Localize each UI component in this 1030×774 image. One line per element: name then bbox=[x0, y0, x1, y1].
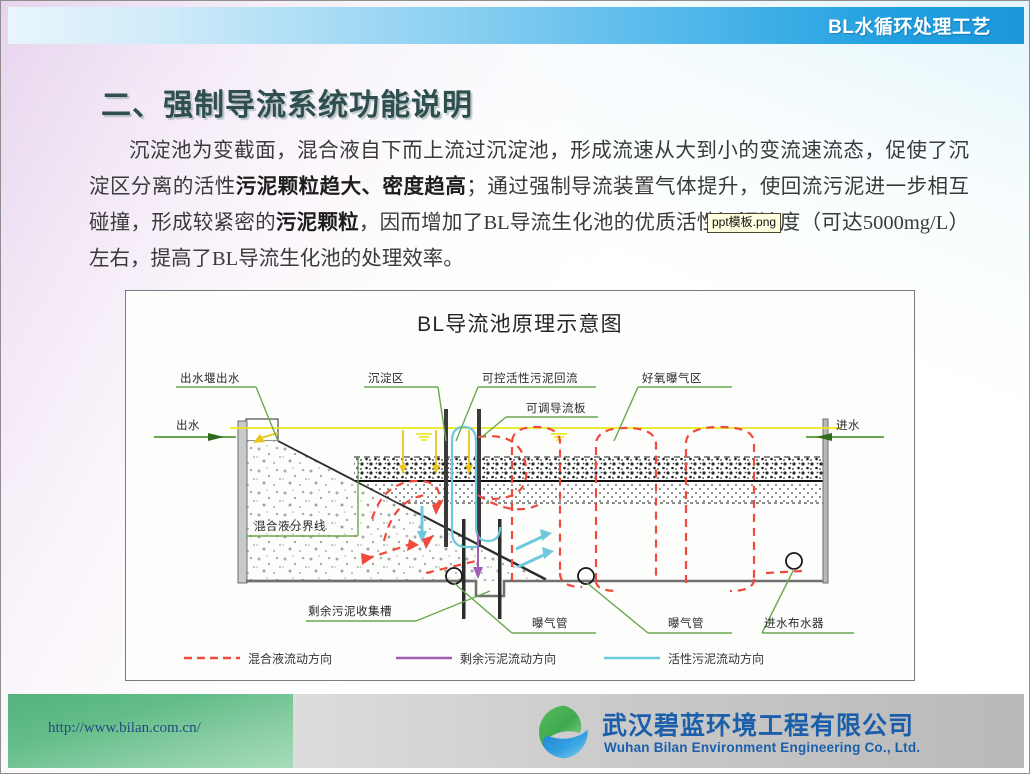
header-bar: BL水循环处理工艺 bbox=[8, 7, 1024, 44]
legend-label-activated-sludge: 活性污泥流动方向 bbox=[668, 650, 764, 667]
footer-url[interactable]: http://www.bilan.com.cn/ bbox=[48, 720, 201, 737]
file-tooltip: ppt模板.png bbox=[707, 213, 781, 233]
label-effluent-weir: 出水堰出水 bbox=[180, 370, 240, 386]
footer-bar: http://www.bilan.com.cn/ 武汉碧蓝环境工程有限公司 Wu… bbox=[8, 694, 1024, 768]
company-name-en: Wuhan Bilan Environment Engineering Co.,… bbox=[604, 740, 920, 755]
label-aeration-pipe-2: 曝气管 bbox=[668, 615, 704, 631]
page-title: 二、强制导流系统功能说明 bbox=[101, 80, 473, 124]
slide-canvas: BL水循环处理工艺 二、强制导流系统功能说明 沉淀池为变截面，混合液自下而上流过… bbox=[0, 0, 1030, 774]
label-inflow: 进水 bbox=[836, 417, 860, 433]
inflow-pointer bbox=[806, 433, 884, 441]
header-title: BL水循环处理工艺 bbox=[828, 12, 991, 39]
diagram-figure: BL导流池原理示意图 bbox=[125, 290, 915, 681]
label-outflow: 出水 bbox=[176, 417, 200, 433]
company-logo-icon bbox=[536, 704, 592, 760]
label-adjustable-baffle: 可调导流板 bbox=[526, 400, 586, 416]
paragraph-bold-1: 污泥颗粒趋大、密度趋高 bbox=[236, 176, 467, 198]
label-mixed-liquor-line: 混合液分界线 bbox=[254, 518, 326, 534]
outflow-pointer bbox=[154, 433, 236, 441]
label-aeration-pipe-1: 曝气管 bbox=[532, 615, 568, 631]
company-name-cn: 武汉碧蓝环境工程有限公司 bbox=[602, 706, 914, 742]
body-paragraph: 沉淀池为变截面，混合液自下而上流过沉淀池，形成流速从大到小的变流速流态，促使了沉… bbox=[89, 133, 969, 277]
legend-label-excess-sludge: 剩余污泥流动方向 bbox=[460, 650, 556, 667]
label-settling-zone: 沉淀区 bbox=[368, 370, 404, 386]
label-sludge-return: 可控活性污泥回流 bbox=[482, 370, 578, 386]
legend-label-mixed-liquor: 混合液流动方向 bbox=[248, 650, 332, 667]
label-influent-distributor: 进水布水器 bbox=[764, 615, 824, 631]
label-excess-sludge-trough: 剩余污泥收集槽 bbox=[308, 603, 392, 619]
label-aerobic-zone: 好氧曝气区 bbox=[642, 370, 702, 386]
paragraph-bold-2: 污泥颗粒 bbox=[276, 212, 359, 234]
